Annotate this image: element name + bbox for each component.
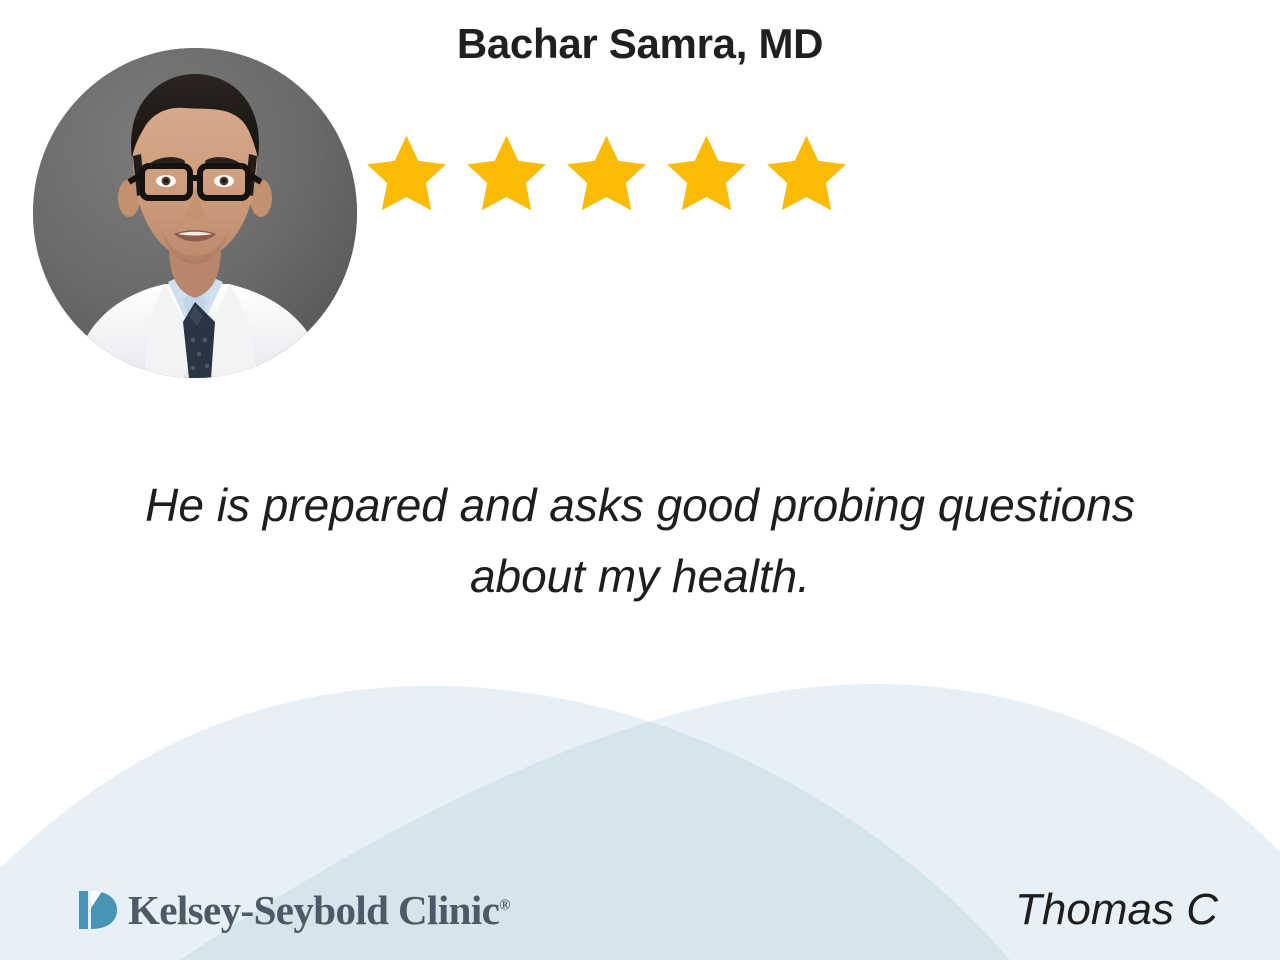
brand-logo: Kelsey-Seybold Clinic® <box>78 888 510 932</box>
registered-trademark-symbol: ® <box>499 897 510 913</box>
brand-wordmark-text: Kelsey-Seybold Clinic <box>128 887 499 933</box>
avatar <box>33 48 357 378</box>
star-rating <box>362 130 851 216</box>
page-title: Bachar Samra, MD <box>380 20 900 68</box>
review-quote: He is prepared and asks good probing que… <box>90 470 1190 613</box>
reviewer-name: Thomas C <box>1015 888 1218 932</box>
star-filled-icon <box>762 130 851 216</box>
brand-wordmark: Kelsey-Seybold Clinic® <box>128 890 510 931</box>
kelsey-k-logomark-icon <box>78 888 118 932</box>
doctor-headshot-image <box>33 48 357 378</box>
review-card: Bachar Samra, MD He is prepared and asks… <box>0 0 1280 960</box>
star-filled-icon <box>562 130 651 216</box>
star-filled-icon <box>662 130 751 216</box>
star-filled-icon <box>462 130 551 216</box>
star-filled-icon <box>362 130 451 216</box>
